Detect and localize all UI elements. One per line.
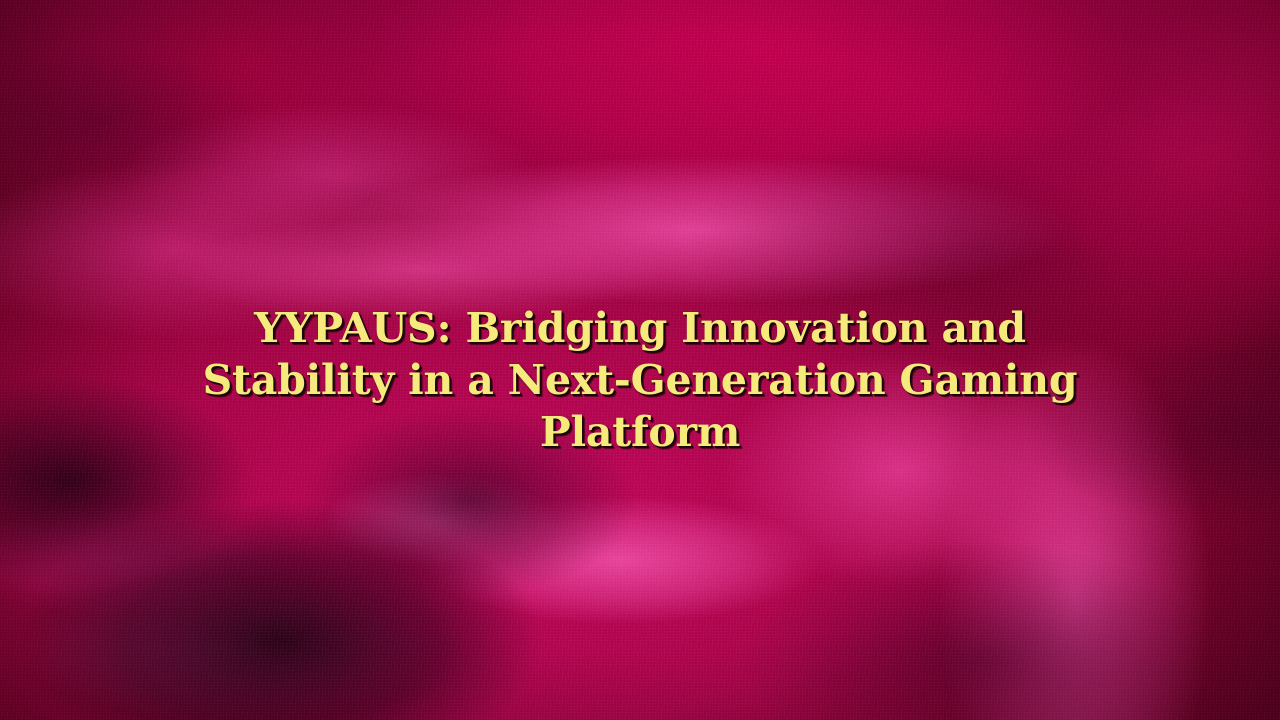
hero-title-container: YYPAUS: Bridging Innovation and Stabilit… <box>0 302 1280 458</box>
hero-banner: YYPAUS: Bridging Innovation and Stabilit… <box>0 0 1280 720</box>
page-title: YYPAUS: Bridging Innovation and Stabilit… <box>160 302 1120 458</box>
